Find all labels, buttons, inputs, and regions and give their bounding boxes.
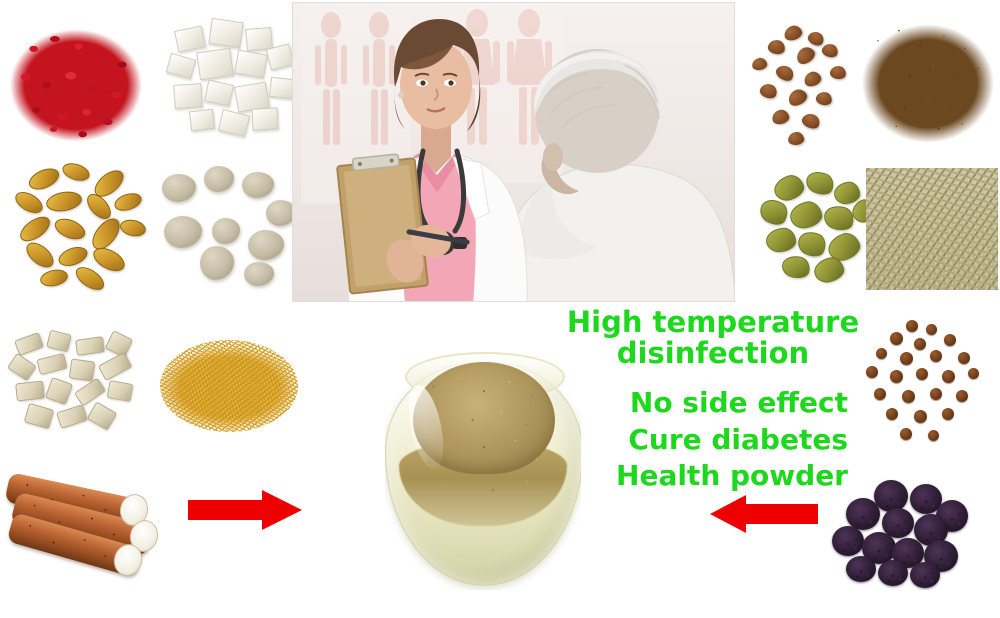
headline-line-2: disinfection [548,339,878,369]
marketing-text-block: High temperature disinfection No side ef… [548,308,878,491]
arrow-left [708,494,818,534]
ingredient-pale-cut-straw [866,168,998,290]
claim-health-powder: Health powder [548,462,848,491]
ingredient-white-poria-cubes [158,12,298,152]
ingredient-golden-fiber-herb [152,332,306,440]
ingredient-pale-chopped-root [4,326,144,438]
claims-list: No side effect Cure diabetes Health powd… [548,389,878,491]
arrow-right [188,488,304,532]
ingredient-grey-rhizome-pieces [148,158,300,294]
ingredient-dark-mulberries [826,474,978,590]
doctor-consultation-photo [292,2,735,302]
ingredient-dried-red-goji-fruit [4,14,146,150]
product-banner: High temperature disinfection No side ef… [0,0,1000,618]
ingredient-fine-dark-granules [858,12,998,152]
headline-line-1: High temperature [548,308,878,338]
claim-no-side-effect: No side effect [548,389,848,418]
ingredient-yellow-astragalus-slices [6,158,152,294]
ingredient-dried-brown-seeds [748,14,866,154]
ingredient-yam-root-bars [2,452,174,588]
ingredient-olive-dried-leaves [752,166,880,288]
claim-cure-diabetes: Cure diabetes [548,426,848,455]
